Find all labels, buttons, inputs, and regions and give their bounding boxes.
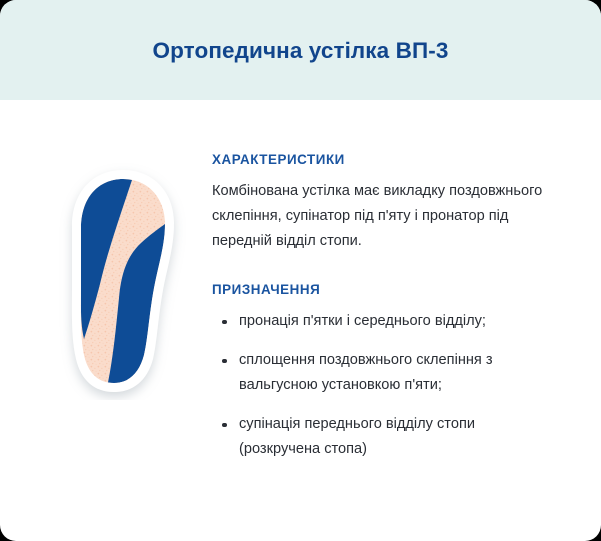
section-purpose: ПРИЗНАЧЕННЯ пронація п'ятки і середнього… [212,282,560,462]
list-item-label: сплощення поздовжнього склепіння з вальг… [239,352,493,393]
list-item: сплощення поздовжнього склепіння з вальг… [212,348,560,398]
insole-surface [48,162,196,400]
section-characteristics: ХАРАКТЕРИСТИКИ Комбінована устілка має в… [212,152,560,254]
card-header: Ортопедична устілка ВП-3 [0,0,601,100]
list-item: супінація переднього відділу стопи (розк… [212,412,560,462]
list-item-label: супінація переднього відділу стопи (розк… [239,416,475,457]
section-heading-purpose: ПРИЗНАЧЕННЯ [212,282,560,298]
product-description: ХАРАКТЕРИСТИКИ Комбінована устілка має в… [212,152,560,462]
bullet-icon [222,423,227,428]
bullet-icon [222,359,227,364]
bullet-icon [222,320,227,325]
insole-illustration [48,162,196,400]
characteristics-text: Комбінована устілка має викладку поздовж… [212,179,552,254]
section-heading-characteristics: ХАРАКТЕРИСТИКИ [212,152,560,168]
product-info-card: Ортопедична устілка ВП-3 [0,0,601,541]
page-title: Ортопедична устілка ВП-3 [153,37,449,64]
card-body: ХАРАКТЕРИСТИКИ Комбінована устілка має в… [0,100,601,541]
list-item: пронація п'ятки і середнього відділу; [212,309,560,334]
list-item-label: пронація п'ятки і середнього відділу; [239,313,486,329]
purpose-list: пронація п'ятки і середнього відділу; сп… [212,309,560,462]
